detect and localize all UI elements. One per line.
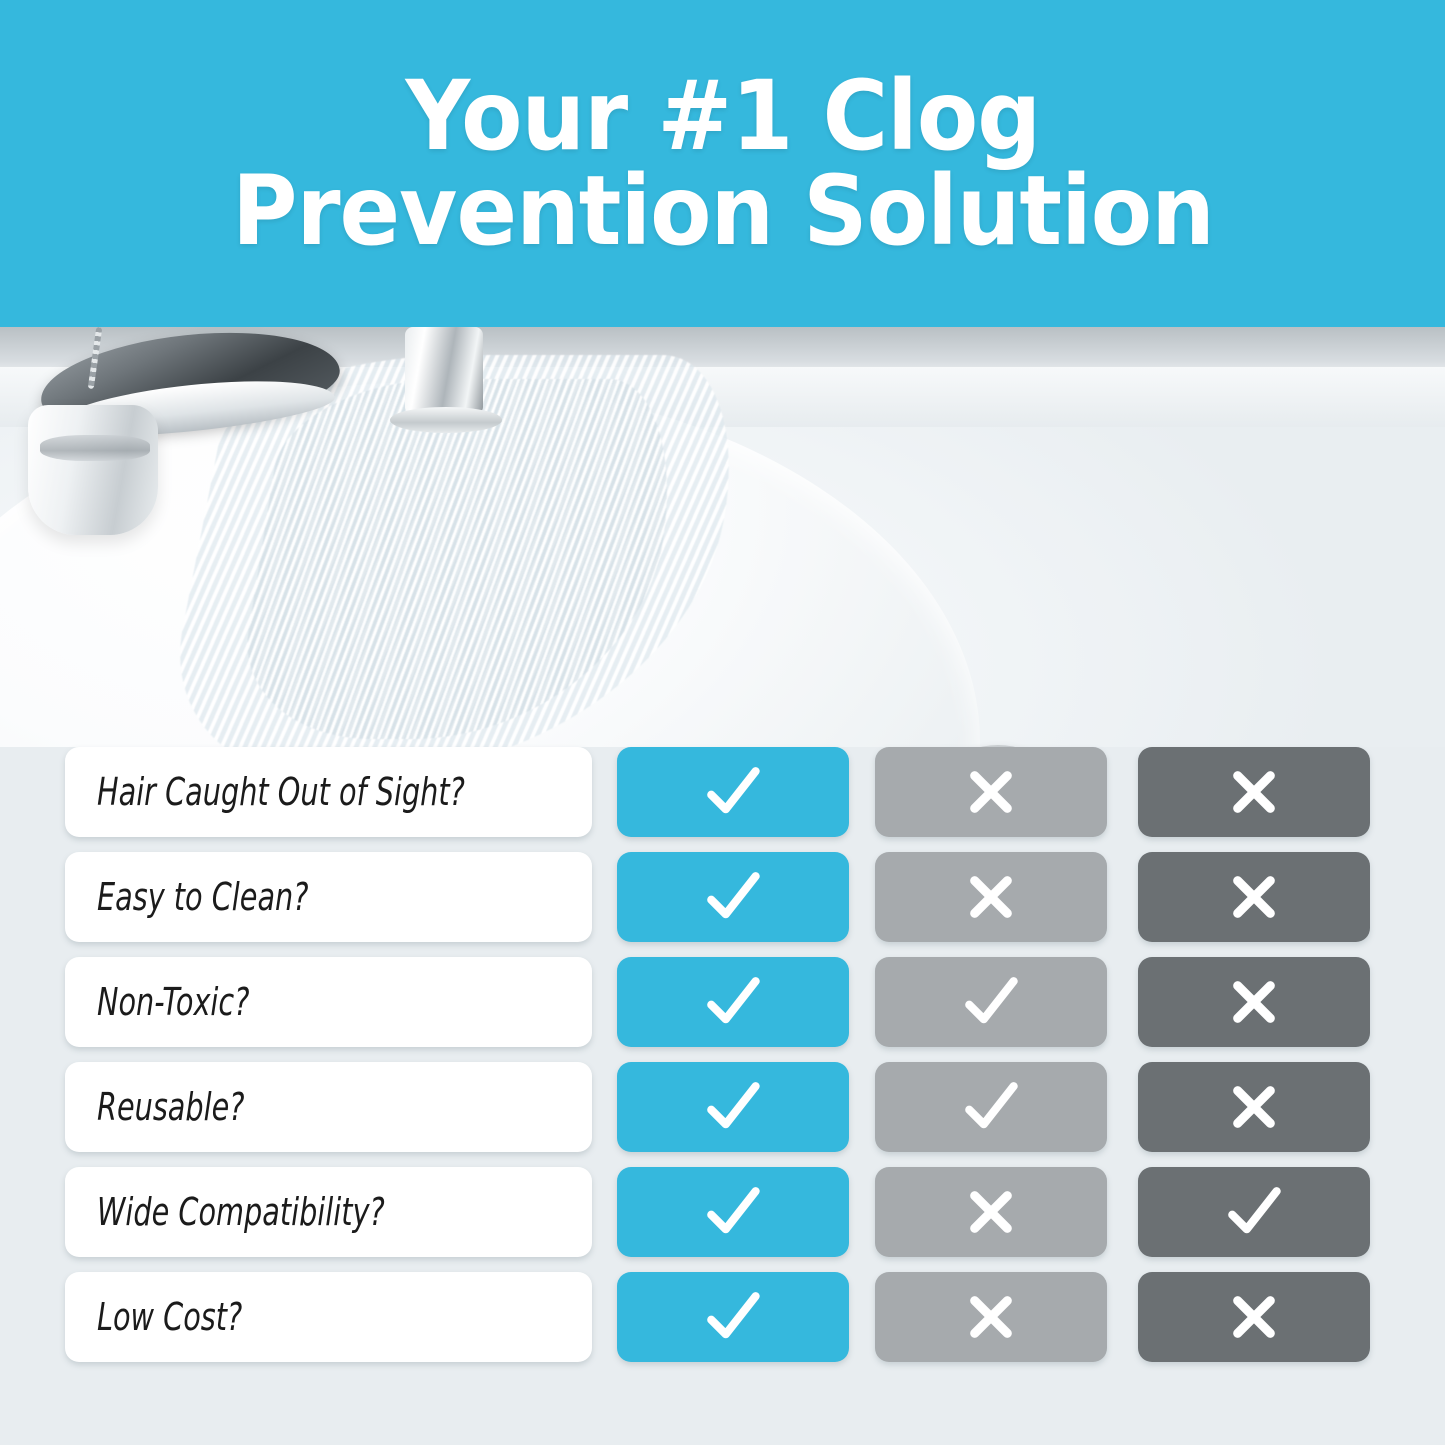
feature-label-cell: Wide Compatibility? — [65, 1167, 592, 1257]
cross-mark-icon — [1225, 1078, 1283, 1136]
faucet-handle-base-icon — [390, 407, 502, 433]
cross-cell — [875, 747, 1107, 837]
check-cell — [617, 747, 849, 837]
cross-cell — [875, 852, 1107, 942]
faucet-band-icon — [40, 435, 150, 461]
check-cell — [617, 1062, 849, 1152]
check-cell — [617, 852, 849, 942]
feature-label-cell: Hair Caught Out of Sight? — [65, 747, 592, 837]
faucet-handle-icon — [405, 327, 483, 413]
table-row: Low Cost? — [0, 1272, 1445, 1362]
sink-photo-scene: 80 OZ VALUE SIZE GREAT ON TOUGH HAIR CLO… — [0, 327, 1445, 747]
page-title: Your #1 Clog Prevention Solution — [194, 69, 1250, 257]
check-cell — [617, 957, 849, 1047]
check-mark-icon — [704, 763, 762, 821]
check-cell — [617, 1167, 849, 1257]
cross-mark-icon — [1225, 868, 1283, 926]
cross-mark-icon — [962, 868, 1020, 926]
feature-label-text: Wide Compatibility? — [97, 1190, 385, 1234]
check-mark-icon — [962, 1078, 1020, 1136]
feature-label-text: Easy to Clean? — [97, 875, 309, 919]
table-row: Non-Toxic? — [0, 957, 1445, 1047]
feature-label-text: Low Cost? — [97, 1295, 242, 1339]
table-row: Reusable? — [0, 1062, 1445, 1152]
header-banner: Your #1 Clog Prevention Solution — [0, 0, 1445, 327]
feature-label-cell: Reusable? — [65, 1062, 592, 1152]
check-cell — [875, 1062, 1107, 1152]
check-mark-icon — [704, 1183, 762, 1241]
check-cell — [875, 957, 1107, 1047]
cross-mark-icon — [962, 1288, 1020, 1346]
table-row: Hair Caught Out of Sight? — [0, 747, 1445, 837]
check-mark-icon — [1225, 1183, 1283, 1241]
cross-mark-icon — [1225, 973, 1283, 1031]
faucet-body-icon — [28, 405, 158, 535]
feature-label-text: Reusable? — [97, 1085, 245, 1129]
cross-cell — [1138, 1062, 1370, 1152]
feature-label-cell: Non-Toxic? — [65, 957, 592, 1047]
cross-mark-icon — [962, 763, 1020, 821]
cross-cell — [875, 1167, 1107, 1257]
feature-label-text: Non-Toxic? — [97, 980, 249, 1024]
check-cell — [1138, 1167, 1370, 1257]
cross-cell — [1138, 957, 1370, 1047]
cross-cell — [1138, 852, 1370, 942]
check-mark-icon — [962, 973, 1020, 1031]
table-row: Wide Compatibility? — [0, 1167, 1445, 1257]
check-mark-icon — [704, 973, 762, 1031]
comparison-table: Hair Caught Out of Sight?Easy to Clean?N… — [0, 747, 1445, 1372]
feature-label-text: Hair Caught Out of Sight? — [97, 770, 465, 814]
check-mark-icon — [704, 868, 762, 926]
cross-mark-icon — [1225, 1288, 1283, 1346]
cross-cell — [1138, 1272, 1370, 1362]
cross-mark-icon — [962, 1183, 1020, 1241]
cross-cell — [875, 1272, 1107, 1362]
check-mark-icon — [704, 1078, 762, 1136]
check-cell — [617, 1272, 849, 1362]
cross-cell — [1138, 747, 1370, 837]
feature-label-cell: Easy to Clean? — [65, 852, 592, 942]
table-row: Easy to Clean? — [0, 852, 1445, 942]
check-mark-icon — [704, 1288, 762, 1346]
cross-mark-icon — [1225, 763, 1283, 821]
product-infographic: Your #1 Clog Prevention Solution — [0, 0, 1445, 1445]
feature-label-cell: Low Cost? — [65, 1272, 592, 1362]
